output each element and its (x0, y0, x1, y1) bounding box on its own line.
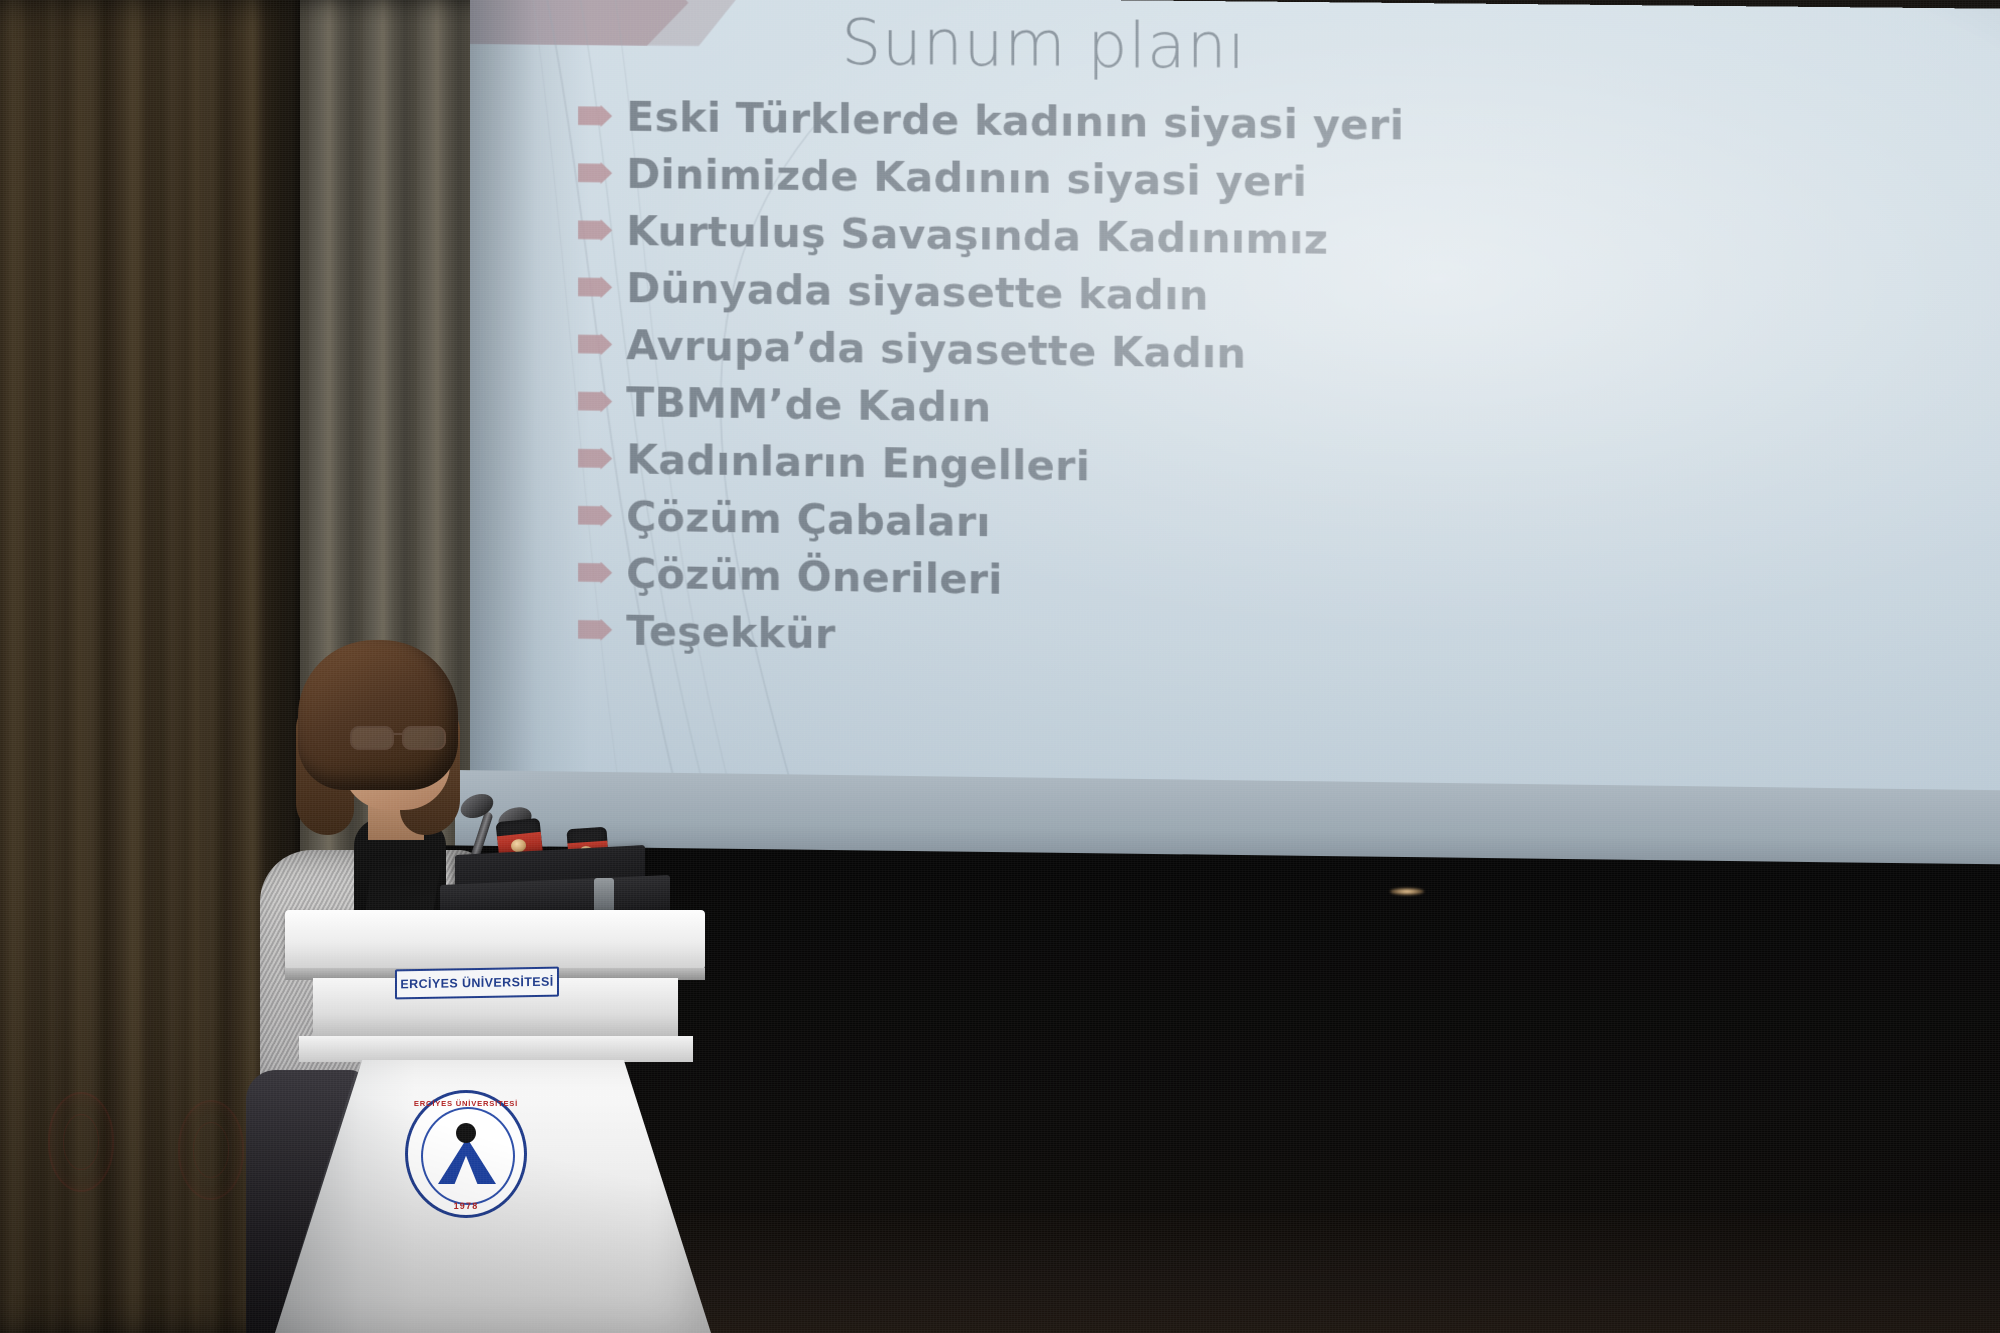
bullet-arrow-icon (578, 561, 612, 584)
projection-screen: Sunum planı Eski Türklerde kadının siyas… (470, 0, 2000, 824)
list-item-label: Teşekkür (626, 606, 835, 658)
crest-year-label: 1978 (405, 1201, 527, 1211)
speaker-hair (298, 640, 458, 790)
podium-body-shadow (275, 1060, 415, 1333)
screen-surface: Sunum planı Eski Türklerde kadının siyas… (470, 0, 2000, 824)
curtain-emblem-inner (63, 1114, 99, 1170)
bullet-arrow-icon (578, 504, 612, 527)
podium-nameplate: ERCİYES ÜNİVERSİTESİ (395, 967, 559, 1000)
crest-sun-icon (456, 1123, 476, 1143)
slide-bullet-list: Eski Türklerde kadının siyasi yeri Dinim… (578, 87, 2000, 682)
list-item-label: Kadınların Engelleri (626, 435, 1090, 490)
list-item-label: Çözüm Çabaları (626, 492, 991, 546)
university-crest: ERCİYES ÜNİVERSİTESİ 1978 (405, 1090, 527, 1218)
bullet-arrow-icon (578, 219, 612, 241)
bullet-arrow-icon (578, 105, 612, 127)
glasses-lens-left (350, 726, 394, 750)
lectern-podium: ERCİYES ÜNİVERSİTESİ ERCİYES ÜNİVERSİTES… (285, 910, 705, 1333)
bullet-arrow-icon (578, 333, 612, 355)
podium-top-surface (285, 910, 705, 970)
list-item-label: TBMM’de Kadın (626, 378, 991, 431)
curtain-emblem-left (48, 1092, 114, 1192)
list-item-label: Avrupa’da siyasette Kadın (626, 321, 1246, 378)
crest-top-text: ERCİYES ÜNİVERSİTESİ (405, 1099, 527, 1108)
glasses-lens-right (402, 726, 446, 750)
curtain-emblem-right (178, 1100, 244, 1200)
podium-nameplate-label: ERCİYES ÜNİVERSİTESİ (400, 975, 553, 992)
bullet-arrow-icon (578, 618, 612, 641)
list-item-label: Dünyada siyasette kadın (626, 263, 1208, 319)
glasses-bridge (392, 733, 402, 735)
bullet-arrow-icon (578, 447, 612, 470)
podium-neck: ERCİYES ÜNİVERSİTESİ (313, 978, 678, 1038)
conference-presentation-photo: Sunum planı Eski Türklerde kadının siyas… (0, 0, 2000, 1333)
list-item-label: Kurtuluş Savaşında Kadınımız (626, 206, 1328, 263)
curtain-emblem-inner (193, 1122, 229, 1178)
bullet-arrow-icon (578, 276, 612, 298)
bullet-arrow-icon (578, 162, 612, 184)
bullet-arrow-icon (578, 390, 612, 413)
list-item-label: Dinimizde Kadının siyasi yeri (626, 149, 1307, 205)
floor-light-reflection (1390, 888, 1424, 895)
slide-title: Sunum planı (841, 6, 1246, 84)
presentation-slide: Sunum planı Eski Türklerde kadının siyas… (470, 0, 2000, 824)
speaker-glasses (350, 726, 446, 746)
list-item-label: Eski Türklerde kadının siyasi yeri (626, 92, 1404, 149)
podium-collar (299, 1036, 693, 1062)
list-item-label: Çözüm Önerileri (626, 549, 1002, 603)
